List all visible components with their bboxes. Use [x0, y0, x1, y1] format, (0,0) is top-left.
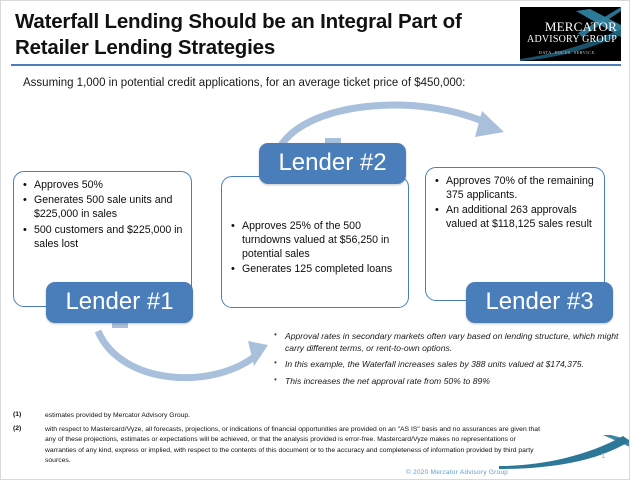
list-item: In this example, the Waterfall increases… [285, 359, 627, 371]
footnotes-block: (1) estimates provided by Mercator Advis… [13, 411, 543, 470]
lender-2-box: Approves 25% of the 500 turndowns valued… [221, 176, 409, 308]
logo-line-1: MERCATOR [520, 19, 617, 35]
lender-3-badge-label: Lender #3 [466, 282, 613, 314]
footnote-row: (2) with respect to Mastercard/Vyze, all… [13, 425, 543, 467]
lender-1-bullet-list: Approves 50% Generates 500 sale units an… [14, 172, 191, 252]
footer-swoosh-icon [499, 435, 630, 469]
arrow-lender1-to-notes [98, 331, 268, 378]
list-item: 500 customers and $225,000 in sales lost [34, 224, 185, 252]
logo-tagline: DATA. FOCUS. SERVICE. [520, 50, 615, 55]
lender-1-badge-notch [112, 323, 128, 328]
copyright-notice: © 2020 Mercator Advisory Group [406, 469, 508, 476]
notes-list: Approval rates in secondary markets ofte… [267, 331, 627, 388]
lender-3-box: Approves 70% of the remaining 375 applic… [425, 167, 605, 301]
slide-canvas: Waterfall Lending Should be an Integral … [0, 0, 630, 480]
footnote-row: (1) estimates provided by Mercator Advis… [13, 411, 543, 422]
title-divider [11, 64, 621, 66]
footnote-text: with respect to Mastercard/Vyze, all for… [45, 425, 543, 467]
page-title: Waterfall Lending Should be an Integral … [15, 9, 485, 61]
notes-block: Approval rates in secondary markets ofte… [267, 331, 627, 393]
lender-2-badge[interactable]: Lender #2 [259, 143, 406, 184]
footnote-text: estimates provided by Mercator Advisory … [45, 411, 190, 422]
lender-2-badge-label: Lender #2 [259, 143, 406, 175]
page-number: 1 [601, 451, 605, 460]
list-item: Generates 125 completed loans [242, 263, 402, 277]
list-item: Approves 70% of the remaining 375 applic… [446, 175, 598, 203]
list-item: Approves 25% of the 500 turndowns valued… [242, 220, 402, 262]
lender-3-bullet-list: Approves 70% of the remaining 375 applic… [426, 168, 604, 232]
list-item: Approval rates in secondary markets ofte… [285, 331, 627, 354]
footnote-marker: (2) [13, 425, 45, 467]
list-item: Generates 500 sale units and $225,000 in… [34, 194, 185, 222]
lender-3-badge[interactable]: Lender #3 [466, 282, 613, 323]
list-item: An additional 263 approvals valued at $1… [446, 204, 598, 232]
intro-text: Assuming 1,000 in potential credit appli… [23, 77, 465, 89]
logo-line-2: ADVISORY GROUP [520, 34, 617, 45]
list-item: This increases the net approval rate fro… [285, 376, 627, 388]
list-item: Approves 50% [34, 179, 185, 193]
lender-1-badge-label: Lender #1 [46, 282, 193, 314]
lender-1-badge[interactable]: Lender #1 [46, 282, 193, 323]
footnote-marker: (1) [13, 411, 45, 422]
mercator-logo: MERCATOR ADVISORY GROUP DATA. FOCUS. SER… [520, 7, 621, 61]
lender-2-bullet-list: Approves 25% of the 500 turndowns valued… [222, 177, 408, 277]
